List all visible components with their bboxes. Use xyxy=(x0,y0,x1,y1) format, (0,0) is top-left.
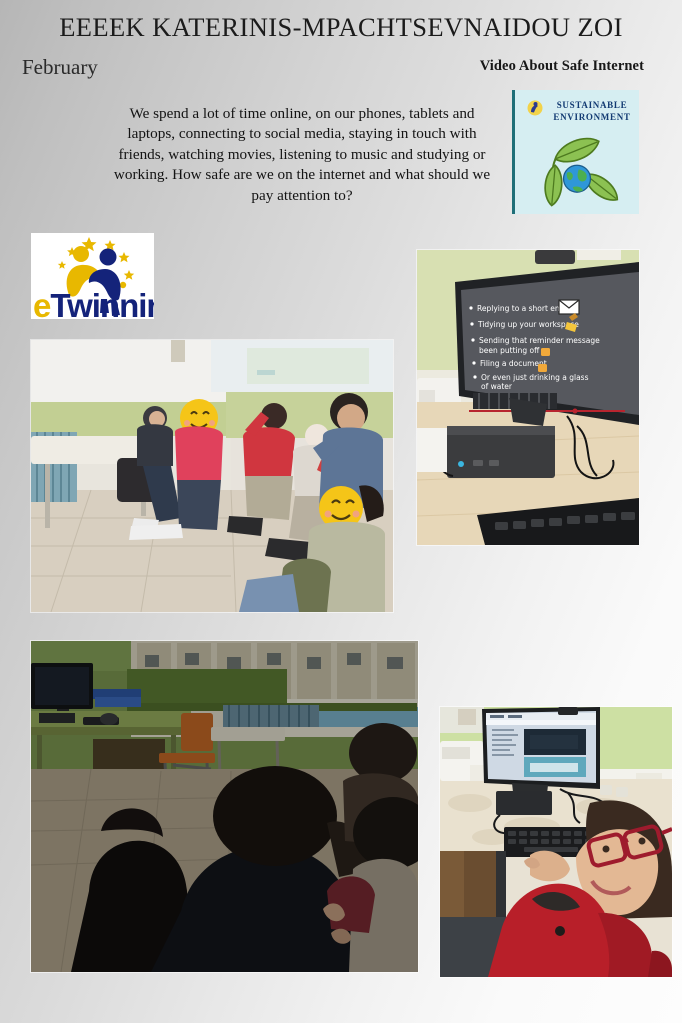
month-label: February xyxy=(22,55,98,80)
se-line-2: ENVIRONMENT xyxy=(553,112,630,122)
recycling-leaves-globe-icon xyxy=(525,135,629,209)
svg-text:Replying to a short email: Replying to a short email xyxy=(477,304,571,313)
etwinning-logo-card: eTwinning xyxy=(31,233,154,319)
svg-text:of water: of water xyxy=(481,382,513,391)
intro-paragraph: We spend a lot of time online, on our ph… xyxy=(106,104,498,206)
photo-girl-at-computer xyxy=(440,707,672,977)
sustainable-environment-card: SUSTAINABLE ENVIRONMENT xyxy=(512,90,639,214)
svg-text:Filing a document: Filing a document xyxy=(480,359,547,368)
svg-text:Sending that reminder message: Sending that reminder message xyxy=(479,336,600,345)
sustainable-environment-text: SUSTAINABLE ENVIRONMENT xyxy=(545,99,639,123)
photo-classroom-audience xyxy=(31,340,393,612)
etwinning-small-badge-icon xyxy=(525,98,545,118)
etwinning-twinning: Twinning xyxy=(50,287,154,319)
subtitle-label: Video About Safe Internet xyxy=(480,58,644,75)
photo-monitor-presentation: Replying to a short email Tidying up you… xyxy=(417,250,639,545)
etwinning-wordmark: eTwinning xyxy=(33,289,154,319)
photo-students-watching xyxy=(31,641,418,972)
svg-text:been putting off: been putting off xyxy=(479,346,540,355)
se-line-1: SUSTAINABLE xyxy=(557,100,628,110)
page-title: EEEEK KATERINIS-MPACHTSEVNAIDOU ZOI xyxy=(0,12,682,43)
poster-canvas: EEEEK KATERINIS-MPACHTSEVNAIDOU ZOI Febr… xyxy=(0,0,682,1023)
svg-text:Or even just drinking a glass: Or even just drinking a glass xyxy=(481,373,589,382)
svg-text:Tidying up your workspace: Tidying up your workspace xyxy=(477,320,579,329)
etwinning-e: e xyxy=(33,287,50,319)
